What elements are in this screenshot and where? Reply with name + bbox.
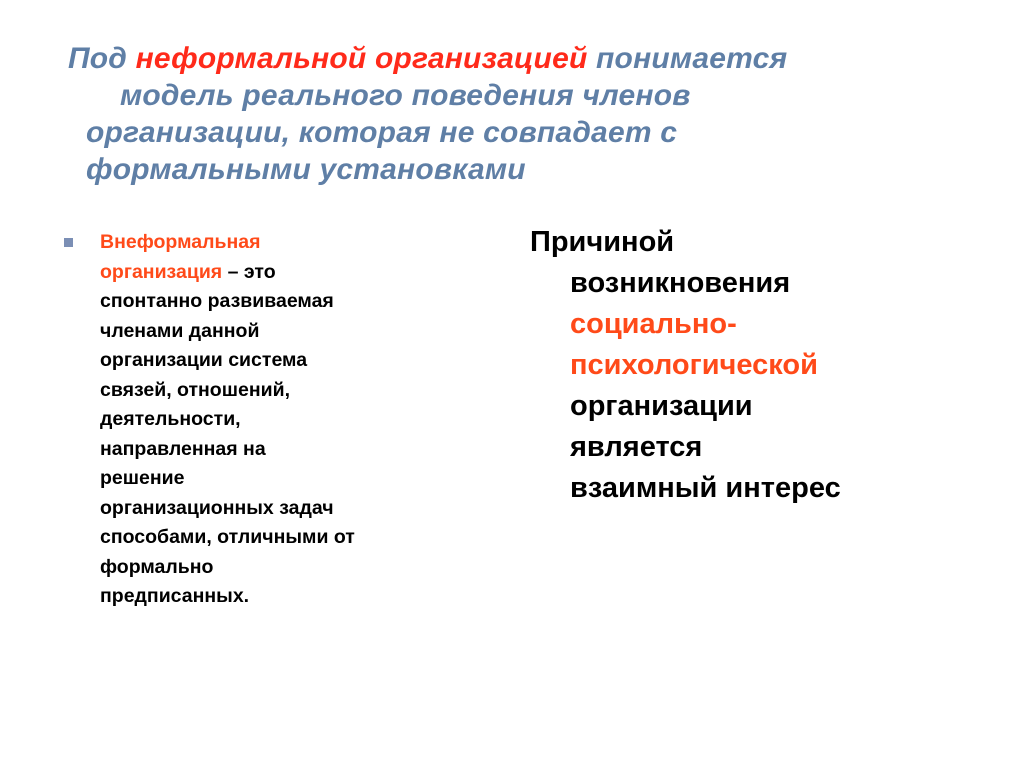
- left-column-text: Внеформальная организация – это спонтанн…: [100, 228, 532, 612]
- left-line-11: способами, отличными от: [100, 523, 532, 553]
- left-lead-term-1: Внеформальная: [100, 231, 260, 253]
- title-line-2: модель реального поведения членов: [62, 77, 962, 114]
- left-line-12: формально: [100, 553, 532, 583]
- right-line-5: организации: [530, 386, 1000, 427]
- right-column: Причиной возникновения социально- психол…: [530, 222, 1000, 509]
- title-text-plain-2: понимается: [588, 42, 788, 75]
- slide-canvas: Под неформальной организацией понимается…: [0, 0, 1024, 767]
- left-line-4: членами данной: [100, 317, 532, 347]
- right-line-2: возникновения: [530, 263, 1000, 304]
- right-line-7: взаимный интерес: [530, 468, 1000, 509]
- left-line-13: предписанных.: [100, 582, 532, 612]
- bullet-list-item: Внеформальная организация – это спонтанн…: [62, 228, 532, 612]
- left-line-9: решение: [100, 464, 532, 494]
- title-highlight-neformalnoy-organizatsiey: неформальной организацией: [136, 42, 588, 75]
- left-line-1: Внеформальная: [100, 228, 532, 258]
- right-line-6: является: [530, 427, 1000, 468]
- left-line-3: спонтанно развиваемая: [100, 287, 532, 317]
- slide-title: Под неформальной организацией понимается…: [62, 40, 962, 188]
- left-line-5: организации система: [100, 346, 532, 376]
- left-line-7: деятельности,: [100, 405, 532, 435]
- title-text-plain: Под: [68, 42, 136, 75]
- left-line-2: организация – это: [100, 258, 532, 288]
- left-line-2-tail: – это: [222, 261, 275, 283]
- title-line-4: формальными установками: [62, 151, 962, 188]
- right-line-1: Причиной: [530, 222, 1000, 263]
- square-bullet-icon: [64, 238, 73, 247]
- title-line-3: организации, которая не совпадает с: [62, 114, 962, 151]
- left-line-6: связей, отношений,: [100, 376, 532, 406]
- right-line-4-highlight: психологической: [530, 345, 1000, 386]
- left-line-10: организационных задач: [100, 494, 532, 524]
- right-line-3-highlight: социально-: [530, 304, 1000, 345]
- left-lead-term-2: организация: [100, 261, 222, 283]
- left-line-8: направленная на: [100, 435, 532, 465]
- left-column: Внеформальная организация – это спонтанн…: [62, 228, 532, 612]
- title-line-1: Под неформальной организацией понимается: [62, 40, 962, 77]
